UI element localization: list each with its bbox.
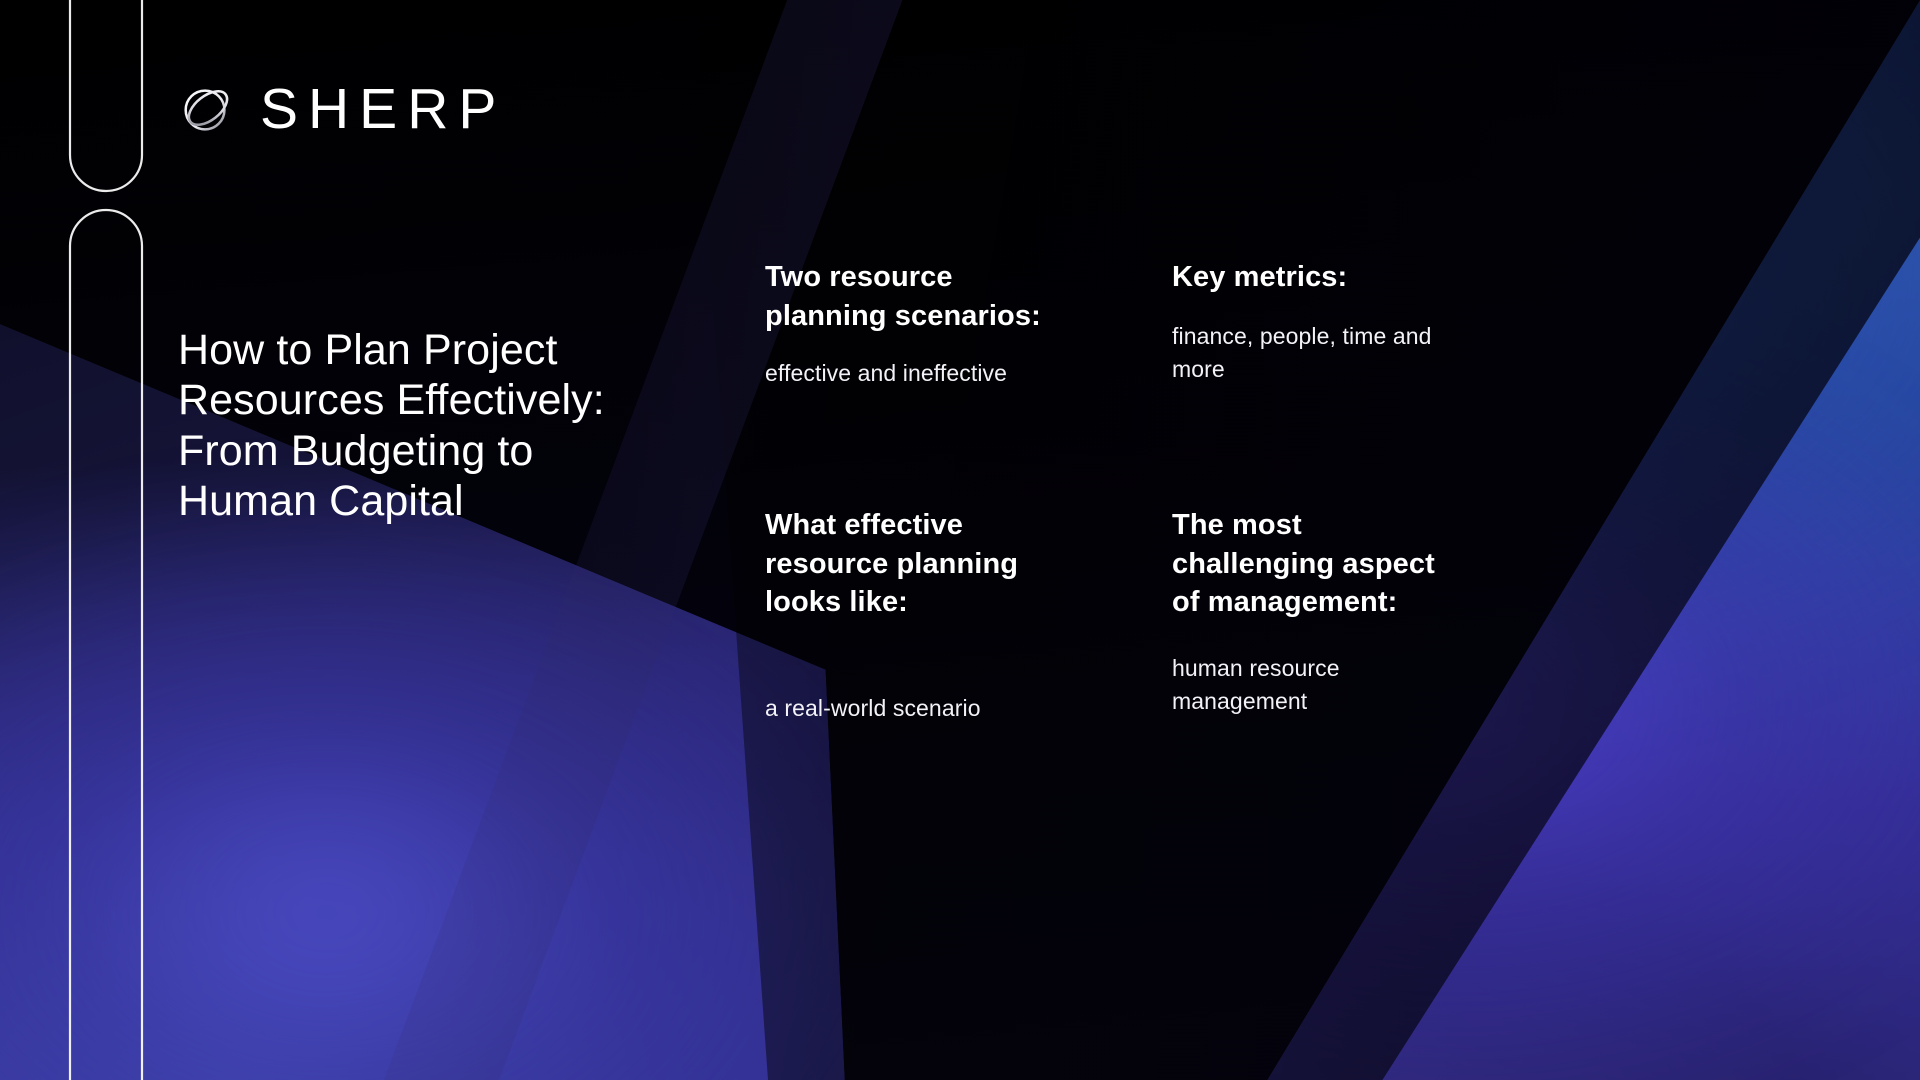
card-heading: Two resource planning scenarios: (765, 258, 1172, 335)
card-what-effective-resource-planning-looks-like: What effective resource planning looks l… (765, 478, 1172, 725)
brand-wordmark: SHERP (260, 81, 506, 138)
slide-title: How to Plan Project Resources Effectivel… (178, 325, 738, 526)
card-subtext: a real-world scenario (765, 692, 1172, 725)
card-key-metrics: Key metrics: finance, people, time and m… (1172, 258, 1865, 478)
card-heading: What effective resource planning looks l… (765, 506, 1172, 622)
card-most-challenging-aspect-of-management: The most challenging aspect of managemen… (1172, 478, 1865, 725)
card-heading: Key metrics: (1172, 258, 1865, 297)
atom-orbit-icon (176, 78, 238, 140)
card-two-resource-planning-scenarios: Two resource planning scenarios: effecti… (765, 258, 1172, 478)
content-grid: Two resource planning scenarios: effecti… (765, 258, 1865, 725)
card-heading: The most challenging aspect of managemen… (1172, 506, 1865, 622)
slide-canvas: SHERP How to Plan Project Resources Effe… (0, 0, 1920, 1080)
brand-logo[interactable]: SHERP (176, 78, 506, 140)
card-subtext: effective and ineffective (765, 357, 1172, 390)
card-subtext: human resource management (1172, 652, 1865, 719)
card-subtext: finance, people, time and more (1172, 320, 1865, 387)
